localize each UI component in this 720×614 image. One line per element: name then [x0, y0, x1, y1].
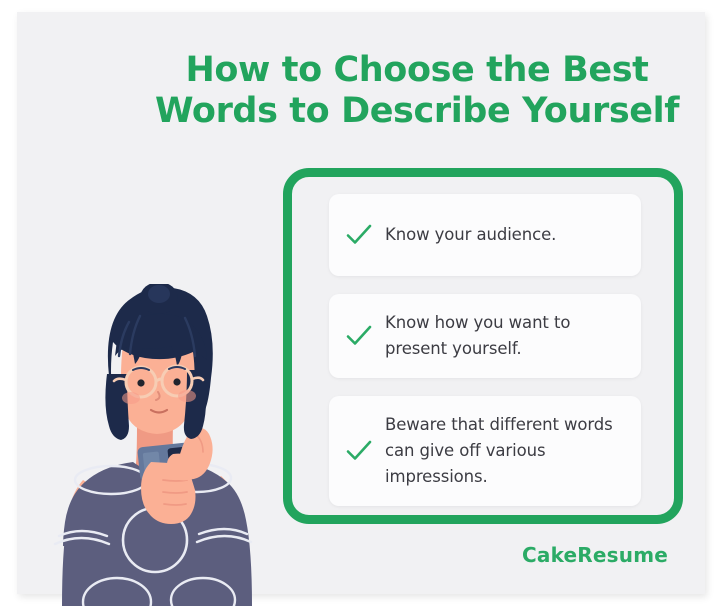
check-icon	[345, 322, 373, 350]
check-icon	[345, 221, 373, 249]
infographic-root: How to Choose the Best Words to Describe…	[0, 0, 720, 614]
page-title-line-2: Words to Describe Yourself	[137, 91, 697, 132]
checklist-item-label: Know how you want to present yourself.	[385, 310, 623, 362]
check-icon	[345, 437, 373, 465]
checklist-item-label: Know your audience.	[385, 222, 556, 248]
infographic-canvas: How to Choose the Best Words to Describe…	[17, 12, 705, 594]
checklist-item: Beware that different words can give off…	[329, 396, 641, 506]
page-title: How to Choose the Best Words to Describe…	[137, 50, 697, 132]
page-title-line-1: How to Choose the Best	[137, 50, 697, 91]
checklist-item-label: Beware that different words can give off…	[385, 412, 623, 490]
checklist: Know your audience. Know how you want to…	[329, 194, 641, 506]
checklist-item: Know how you want to present yourself.	[329, 294, 641, 378]
woman-holding-phone-illustration	[45, 284, 295, 606]
checklist-item: Know your audience.	[329, 194, 641, 276]
brand-logo-text: CakeResume	[522, 543, 668, 567]
